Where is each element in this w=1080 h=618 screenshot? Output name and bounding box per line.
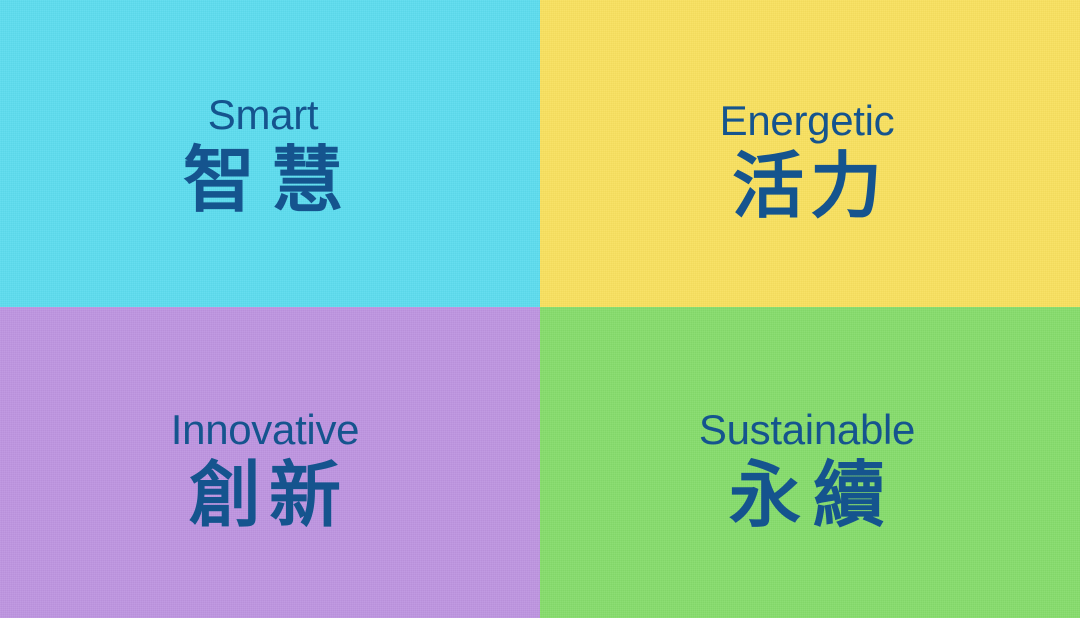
quadrant-innovative-label-zh: 創新 [181, 460, 349, 532]
quadrant-smart: Smart 智慧 [0, 0, 540, 307]
quadrant-innovative: Innovative 創新 [0, 307, 540, 618]
quadrant-smart-label-en: Smart [208, 94, 319, 136]
quadrant-innovative-label-en: Innovative [171, 409, 359, 451]
quadrant-innovative-text-block: Innovative 創新 [171, 409, 359, 532]
quadrant-energetic: Energetic 活力 [540, 0, 1080, 307]
quadrant-sustainable-text-block: Sustainable 永續 [699, 409, 915, 532]
quadrant-energetic-label-zh: 活力 [726, 151, 888, 223]
quadrant-sustainable-label-en: Sustainable [699, 409, 915, 451]
quadrant-energetic-text-block: Energetic 活力 [720, 100, 895, 223]
quadrant-sustainable-label-zh: 永續 [717, 460, 897, 532]
quadrant-smart-text-block: Smart 智慧 [167, 94, 359, 217]
quadrant-smart-label-zh: 智慧 [167, 145, 359, 217]
quadrant-energetic-label-en: Energetic [720, 100, 895, 142]
brand-values-grid: Smart 智慧 Energetic 活力 Innovative 創新 Sust… [0, 0, 1080, 618]
quadrant-sustainable: Sustainable 永續 [540, 307, 1080, 618]
